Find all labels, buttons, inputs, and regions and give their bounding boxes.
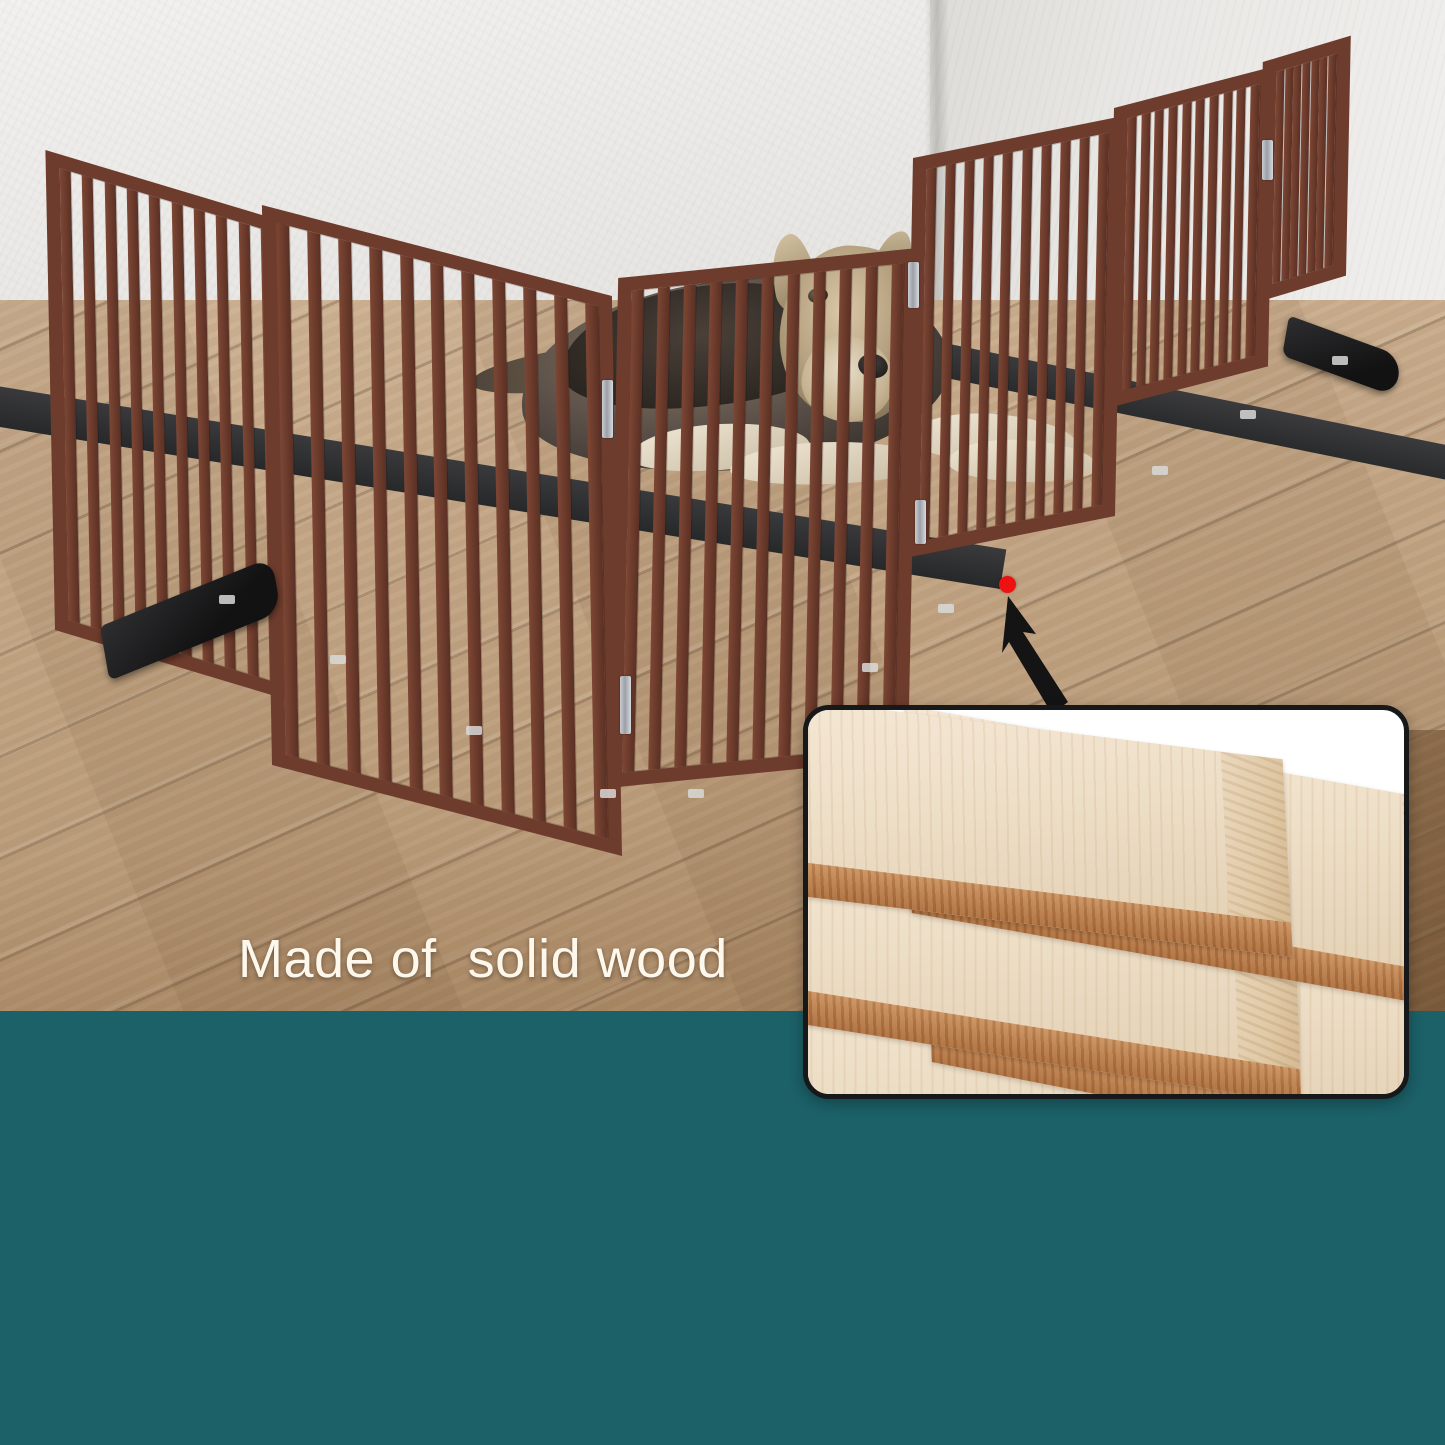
panel-slats [1272, 54, 1336, 284]
gate-slat [171, 202, 191, 657]
hero-caption: Made of solid wood [238, 928, 728, 990]
gate-slat [1218, 91, 1232, 365]
gate-slat [338, 239, 361, 774]
gate-hinge [620, 676, 631, 734]
gate-slat [1053, 140, 1070, 514]
gate-slat [1034, 144, 1051, 518]
gate-slat [830, 269, 852, 752]
gate-foot-cap [466, 726, 482, 735]
gate-foot-cap [1240, 410, 1256, 419]
gate-foot-cap [219, 595, 235, 604]
gate-slat [492, 279, 515, 814]
gate-panel-5 [1108, 66, 1274, 408]
gate-slat [431, 263, 454, 798]
gate-slat [700, 282, 722, 765]
gate-slat [1015, 148, 1032, 522]
gate-slat [1163, 105, 1177, 379]
gate-slat [726, 279, 748, 762]
panel-slats [622, 263, 904, 772]
gate-hinge [908, 262, 919, 308]
panel-slats [919, 133, 1108, 541]
gate-slat [104, 182, 124, 637]
gate-foot-cap [938, 604, 954, 613]
gate-slat [369, 247, 392, 782]
gate-slat [778, 274, 800, 757]
gate-foot-cap [862, 663, 878, 672]
gate-foot-cap [688, 789, 704, 798]
gate-slat [523, 287, 546, 822]
gate-panel-2 [262, 205, 622, 856]
gate-hinge [1262, 140, 1273, 180]
gate-slat [1204, 95, 1218, 369]
gate-foot-cap [1332, 356, 1348, 365]
gate-slat [996, 152, 1013, 526]
panel-slats [1122, 84, 1259, 390]
gate-slat [648, 287, 670, 770]
gate-hinge [602, 380, 613, 438]
gate-foot-cap [330, 655, 346, 664]
gate-slat [1136, 112, 1150, 386]
gate-slat [938, 163, 955, 537]
gate-slat [977, 156, 994, 530]
gate-slat [1232, 88, 1246, 362]
gate-slat [1177, 102, 1191, 376]
gate-slat [127, 188, 147, 643]
gate-slat [400, 255, 423, 790]
gate-slat [856, 266, 878, 749]
gate-panel-4 [905, 116, 1123, 558]
gate-slat [674, 284, 696, 767]
gate-hinge [915, 500, 926, 544]
solid-wood-inset-photo [803, 705, 1409, 1099]
gate-slat [1072, 137, 1089, 511]
gate-slat [1191, 98, 1205, 372]
gate-slat [752, 276, 774, 759]
infographic-page: Made of solid wood [0, 0, 1445, 1445]
panel-slats [276, 223, 608, 839]
gate-slat [307, 231, 330, 766]
gate-slat [554, 295, 577, 830]
callout-arrow-icon [990, 590, 1120, 720]
gate-slat [149, 195, 169, 650]
gate-foot-cap [1152, 466, 1168, 475]
gate-slat [957, 160, 974, 534]
gate-slat [82, 175, 102, 630]
gate-foot-cap [600, 789, 616, 798]
gate-slat [1150, 109, 1164, 383]
gate-slat [804, 271, 826, 754]
